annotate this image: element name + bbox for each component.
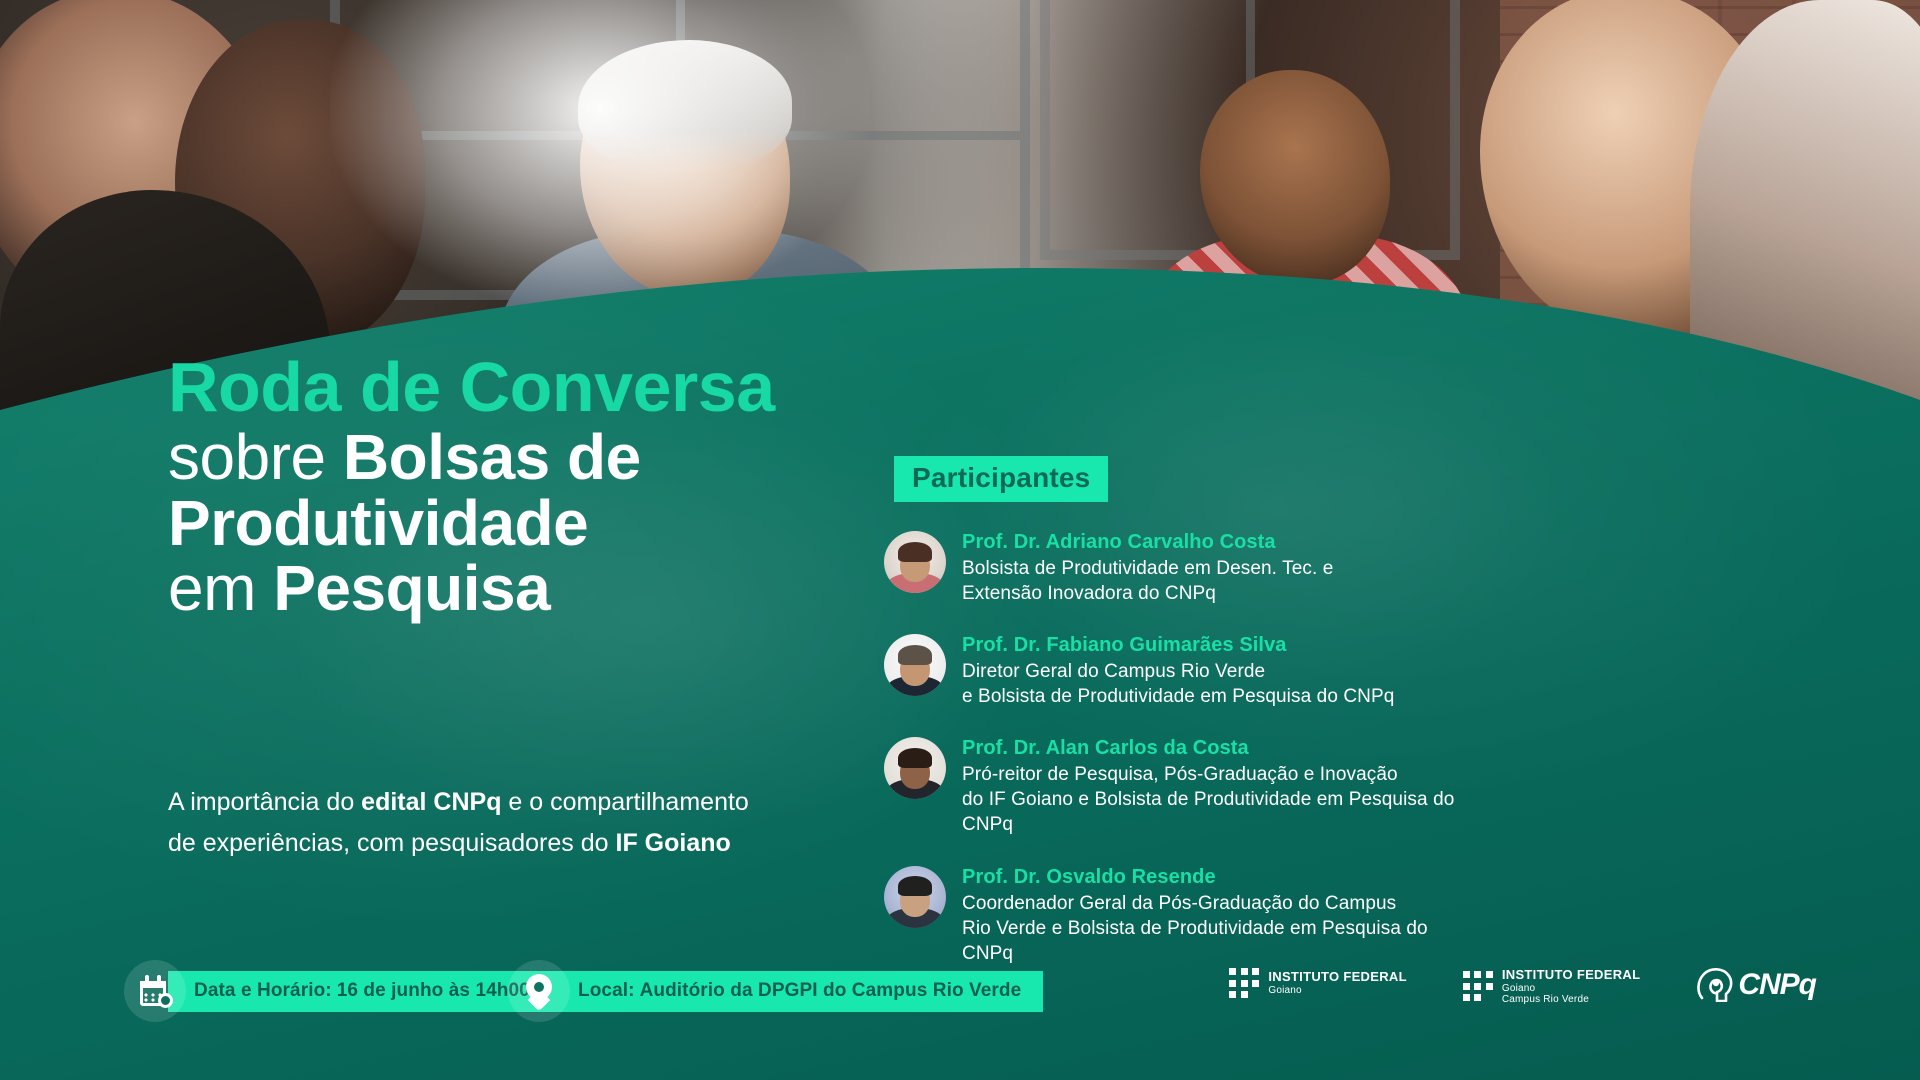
participant-role-line: Pró-reitor de Pesquisa, Pós-Graduação e … — [962, 762, 1484, 787]
logo-if-goiano: INSTITUTO FEDERAL Goiano — [1229, 968, 1406, 998]
if-grid-icon — [1463, 971, 1493, 1001]
if-campus-line2: Goiano — [1502, 983, 1640, 994]
if-grid-icon — [1229, 968, 1259, 998]
avatar — [884, 737, 946, 799]
subtitle-bold-ifgoiano: IF Goiano — [616, 829, 731, 857]
headline-line-1: Roda de Conversa — [168, 352, 928, 423]
headline-line-2-bold: Bolsas de — [343, 421, 641, 493]
date-label: Data e Horário: — [194, 980, 332, 1002]
participant-text: Prof. Dr. Adriano Carvalho Costa Bolsist… — [962, 528, 1333, 606]
participant-role-line: Rio Verde e Bolsista de Produtividade em… — [962, 916, 1484, 966]
participant-role-line: Coordenador Geral da Pós-Graduação do Ca… — [962, 891, 1484, 916]
participants-badge: Participantes — [894, 456, 1108, 502]
if-goiano-text: INSTITUTO FEDERAL Goiano — [1268, 970, 1406, 996]
participant-row: Prof. Dr. Fabiano Guimarães Silva Direto… — [884, 631, 1484, 709]
date-pill: Data e Horário: 16 de junho às 14h00 — [168, 971, 552, 1012]
participant-role-line: Diretor Geral do Campus Rio Verde — [962, 659, 1394, 684]
participants-badge-holder: Participantes — [884, 456, 1484, 502]
headline-line-2: sobre Bolsas de — [168, 425, 928, 490]
cnpq-head-icon — [1696, 968, 1734, 1002]
subtitle-line-1: A importância do edital CNPq e o compart… — [168, 782, 968, 823]
location-value: Auditório da DPGPI do Campus Rio Verde — [640, 980, 1022, 1002]
participant-text: Prof. Dr. Alan Carlos da Costa Pró-reito… — [962, 734, 1484, 837]
if-campus-line1: INSTITUTO FEDERAL — [1502, 968, 1640, 983]
subtitle-text-a: A importância do — [168, 788, 361, 816]
avatar-hair — [898, 876, 932, 896]
if-goiano-line2: Goiano — [1268, 985, 1406, 996]
participant-row: Prof. Dr. Adriano Carvalho Costa Bolsist… — [884, 528, 1484, 606]
if-campus-line3: Campus Rio Verde — [1502, 994, 1640, 1005]
calendar-icon-holder — [124, 960, 186, 1022]
cnpq-wordmark: CNPq — [1738, 970, 1816, 1000]
logo-bar: INSTITUTO FEDERAL Goiano INSTITUTO FEDER… — [1229, 968, 1816, 1005]
avatar-hair — [898, 645, 932, 665]
if-goiano-line1: INSTITUTO FEDERAL — [1268, 970, 1406, 985]
calendar-clock-icon — [140, 975, 170, 1007]
avatar — [884, 531, 946, 593]
map-pin-icon — [526, 974, 552, 1008]
participant-name: Prof. Dr. Fabiano Guimarães Silva — [962, 633, 1394, 658]
window-light-bloom — [330, 0, 870, 310]
clock-overlay — [158, 993, 173, 1008]
avatar-hair — [898, 748, 932, 768]
if-campus-text: INSTITUTO FEDERAL Goiano Campus Rio Verd… — [1502, 968, 1640, 1005]
headline-line-3: Produtividade — [168, 491, 928, 556]
participant-role-line: Extensão Inovadora do CNPq — [962, 581, 1333, 606]
location-pill: Local: Auditório da DPGPI do Campus Rio … — [552, 971, 1043, 1012]
participant-role-line: Bolsista de Produtividade em Desen. Tec.… — [962, 556, 1333, 581]
avatar-hair — [898, 542, 932, 562]
headline-line-4-light: em — [168, 552, 273, 624]
map-pin-hole — [534, 982, 544, 992]
subtitle-text-c: de experiências, com pesquisadores do — [168, 829, 616, 857]
participant-role-line: e Bolsista de Produtividade em Pesquisa … — [962, 684, 1394, 709]
subtitle-bold-cnpq: edital CNPq — [361, 788, 501, 816]
participant-name: Prof. Dr. Adriano Carvalho Costa — [962, 530, 1333, 555]
avatar — [884, 866, 946, 928]
participant-name: Prof. Dr. Osvaldo Resende — [962, 865, 1484, 890]
participant-row: Prof. Dr. Osvaldo Resende Coordenador Ge… — [884, 863, 1484, 966]
participant-name: Prof. Dr. Alan Carlos da Costa — [962, 736, 1484, 761]
headline-line-4-bold: Pesquisa — [273, 552, 550, 624]
participant-row: Prof. Dr. Alan Carlos da Costa Pró-reito… — [884, 734, 1484, 837]
headline-line-4: em Pesquisa — [168, 556, 928, 621]
date-value: 16 de junho às 14h00 — [337, 980, 530, 1002]
participant-role-line: do IF Goiano e Bolsista de Produtividade… — [962, 787, 1484, 837]
logo-cnpq: CNPq — [1696, 968, 1816, 1002]
location-label: Local: — [578, 980, 635, 1002]
subtitle-text-b: e o compartilhamento — [501, 788, 748, 816]
participant-text: Prof. Dr. Osvaldo Resende Coordenador Ge… — [962, 863, 1484, 966]
subtitle-line-2: de experiências, com pesquisadores do IF… — [168, 823, 968, 864]
participants-list: Prof. Dr. Adriano Carvalho Costa Bolsist… — [884, 528, 1484, 966]
date-info: Data e Horário: 16 de junho às 14h00 — [124, 960, 552, 1022]
location-icon-holder — [508, 960, 570, 1022]
event-poster: Roda de Conversa sobre Bolsas de Produti… — [0, 0, 1920, 1080]
headline-line-2-light: sobre — [168, 421, 343, 493]
location-info: Local: Auditório da DPGPI do Campus Rio … — [508, 960, 1043, 1022]
participant-text: Prof. Dr. Fabiano Guimarães Silva Direto… — [962, 631, 1394, 709]
avatar — [884, 634, 946, 696]
calendar-header-bar — [140, 981, 166, 988]
page-title: Roda de Conversa sobre Bolsas de Produti… — [168, 352, 928, 621]
subtitle: A importância do edital CNPq e o compart… — [168, 782, 968, 863]
participants-section: Participantes Prof. Dr. Adriano Carvalho… — [884, 456, 1484, 991]
logo-if-campus-rio-verde: INSTITUTO FEDERAL Goiano Campus Rio Verd… — [1463, 968, 1640, 1005]
